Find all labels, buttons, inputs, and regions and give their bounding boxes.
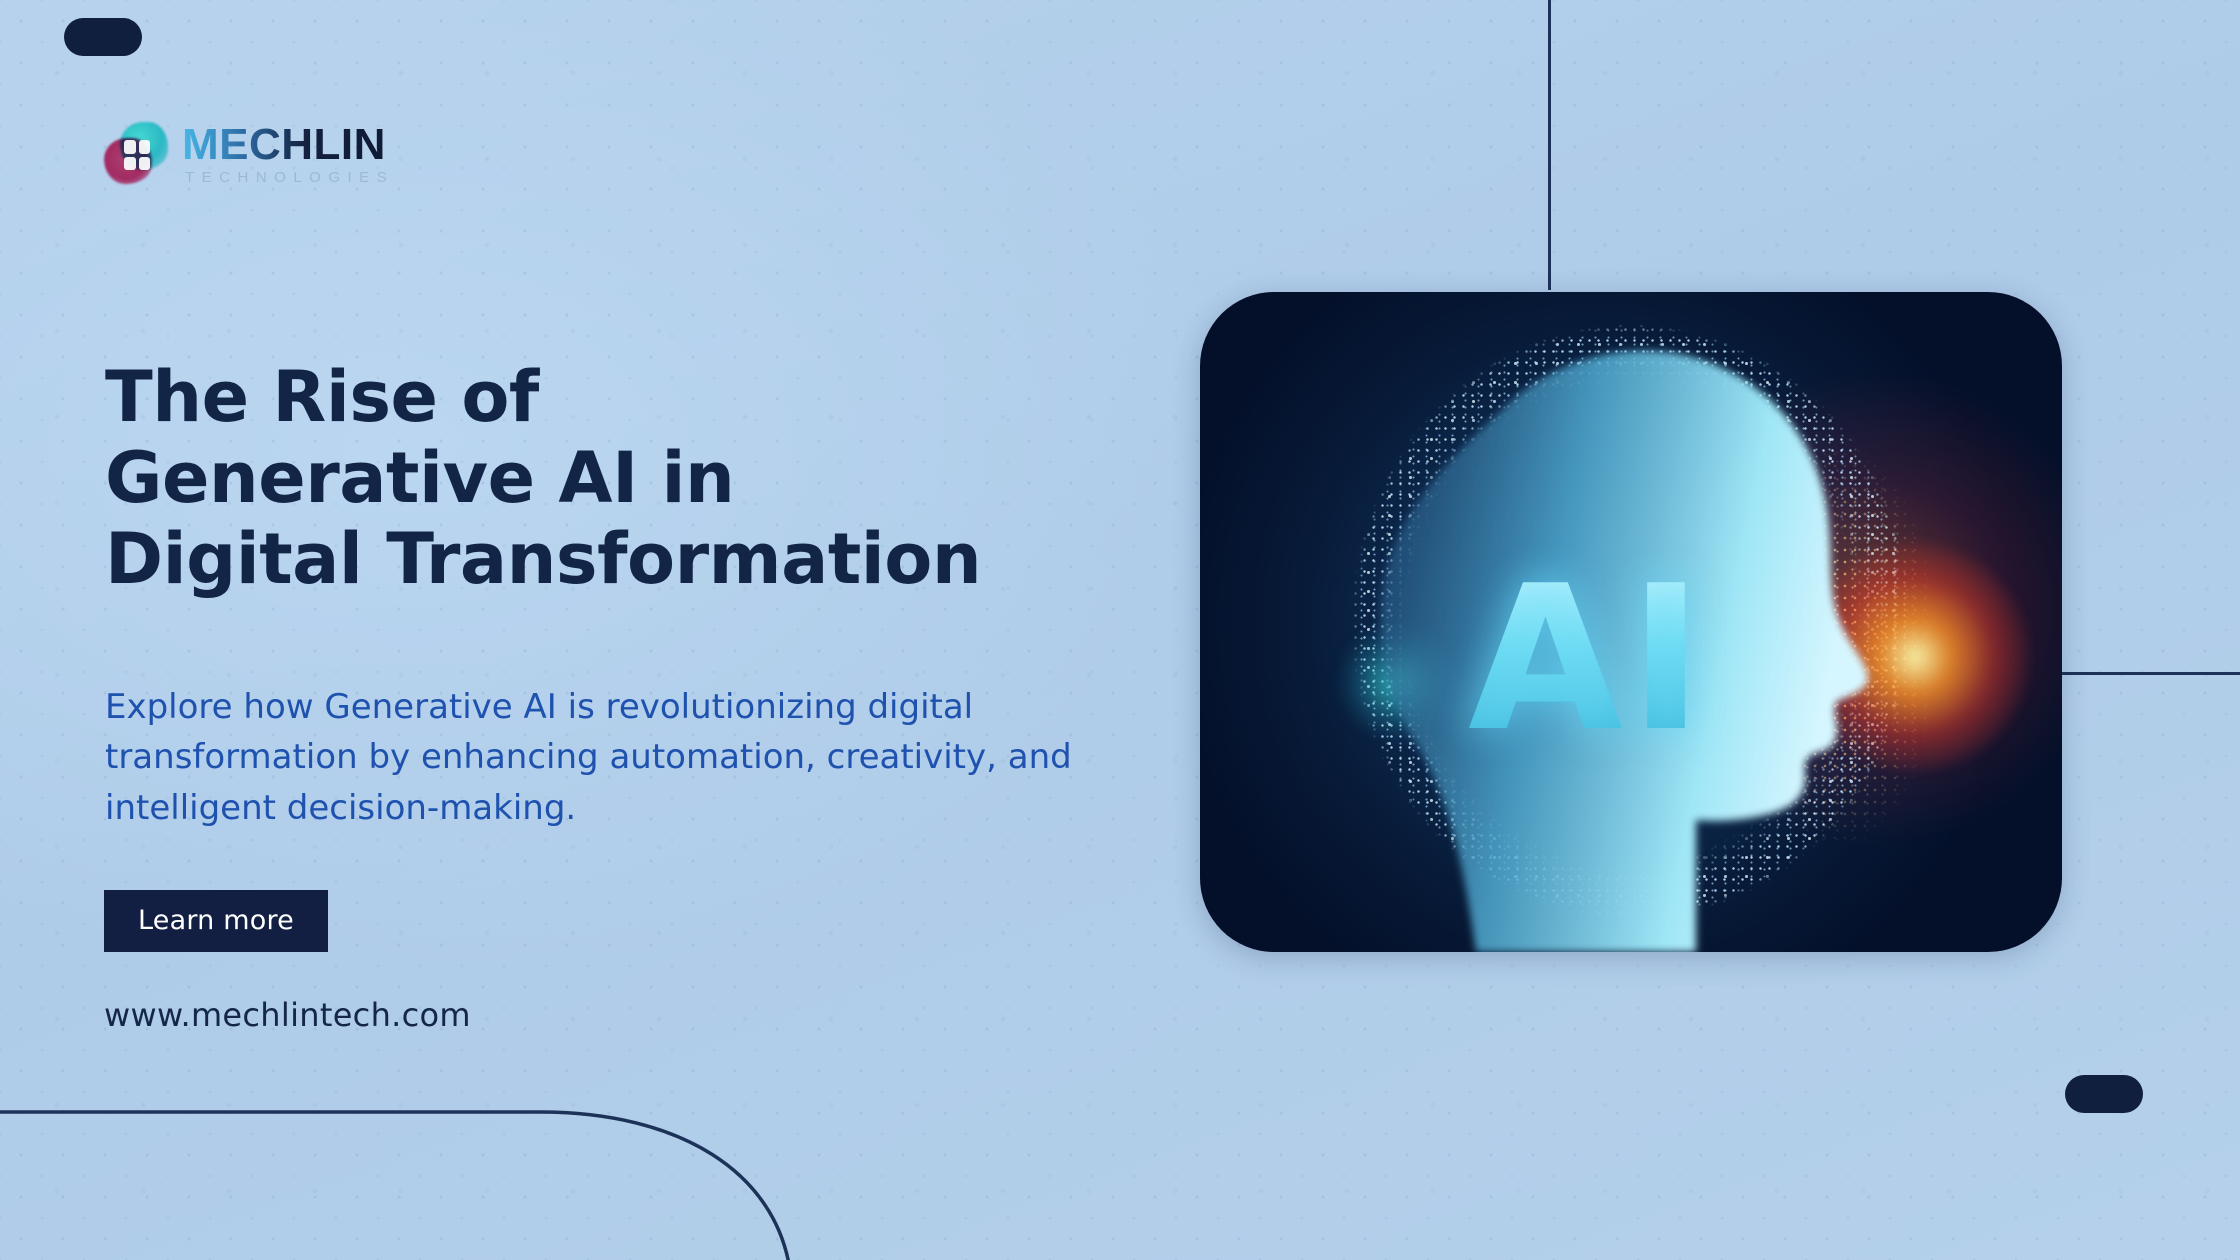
decor-vertical-line: [1548, 0, 1551, 290]
decor-pill-bottom-right: [2065, 1075, 2143, 1113]
brand-logo-text: MECHLIN TECHNOLOGIES: [182, 123, 394, 185]
decor-pill-top-left: [64, 18, 142, 56]
ai-letters-label: AI: [1468, 560, 1709, 760]
brand-logo[interactable]: MECHLIN TECHNOLOGIES: [100, 118, 394, 190]
logo-glyph-squares: [124, 140, 150, 170]
brand-name: MECHLIN: [182, 123, 394, 167]
hero-subheading: Explore how Generative AI is revolutioni…: [105, 682, 1175, 833]
headline-line-1: The Rise of: [105, 357, 1185, 438]
decor-horizontal-line: [2060, 672, 2240, 675]
hero-banner: MECHLIN TECHNOLOGIES The Rise of Generat…: [0, 0, 2240, 1260]
ai-visual-card: AI: [1200, 292, 2062, 952]
learn-more-button[interactable]: Learn more: [104, 890, 328, 952]
mechlin-blob-logo-icon: [100, 118, 172, 190]
website-url[interactable]: www.mechlintech.com: [104, 996, 471, 1034]
decor-corner-curve-icon: [0, 1040, 820, 1260]
page-title: The Rise of Generative AI in Digital Tra…: [105, 357, 1185, 601]
headline-line-2: Generative AI in: [105, 438, 1185, 519]
ai-visual-inner: AI: [1200, 292, 2062, 952]
headline-line-3: Digital Transformation: [105, 519, 1185, 600]
brand-tagline: TECHNOLOGIES: [185, 170, 394, 185]
